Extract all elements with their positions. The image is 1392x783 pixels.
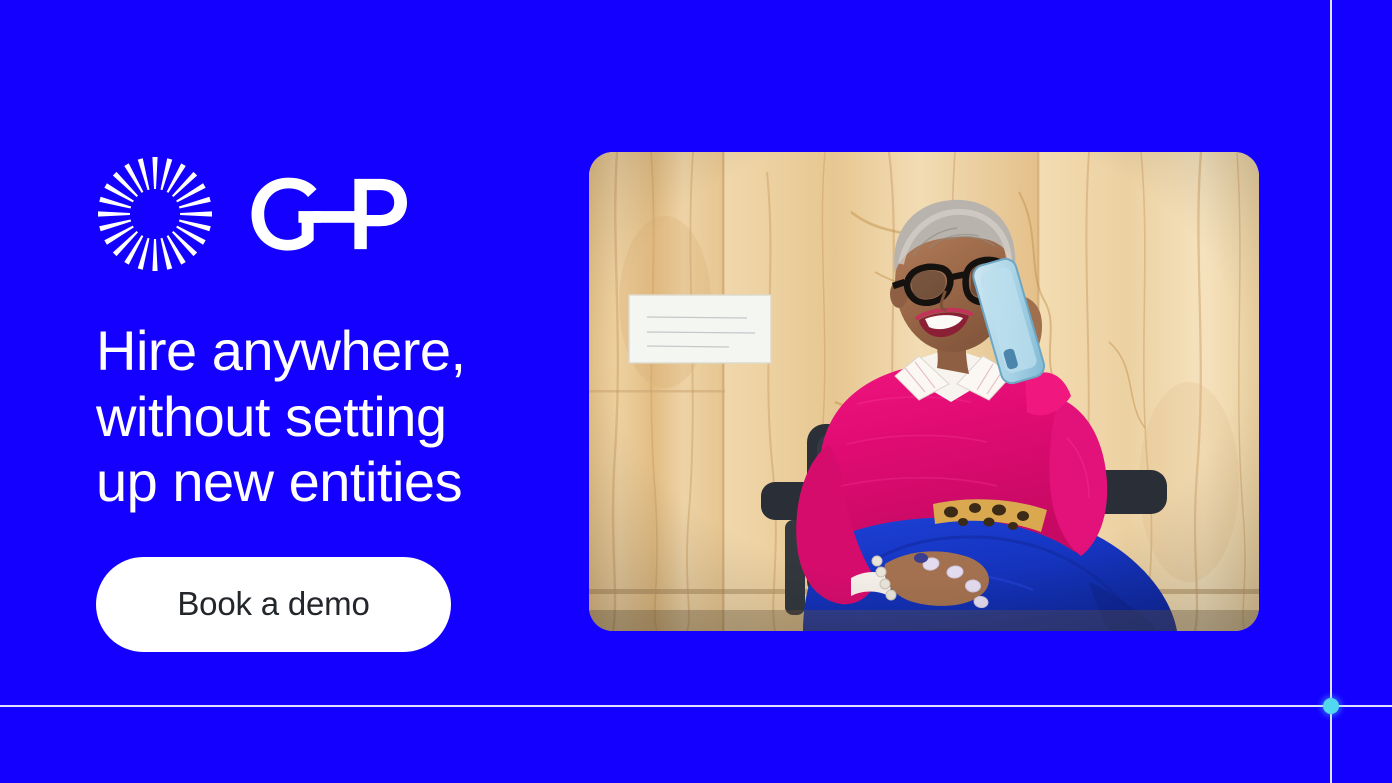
wordmark-gp xyxy=(244,175,454,253)
vertical-rule xyxy=(1330,0,1332,783)
sunburst-icon xyxy=(96,155,214,273)
intersection-dot-icon xyxy=(1323,698,1339,714)
hero-content: Hire anywhere, without setting up new en… xyxy=(96,150,576,652)
book-a-demo-button[interactable]: Book a demo xyxy=(96,557,451,652)
brand-lockup xyxy=(96,150,576,278)
hero-banner: Hire anywhere, without setting up new en… xyxy=(0,0,1392,783)
hero-photo xyxy=(589,152,1259,631)
page-title: Hire anywhere, without setting up new en… xyxy=(96,318,576,515)
horizontal-rule xyxy=(0,705,1392,707)
